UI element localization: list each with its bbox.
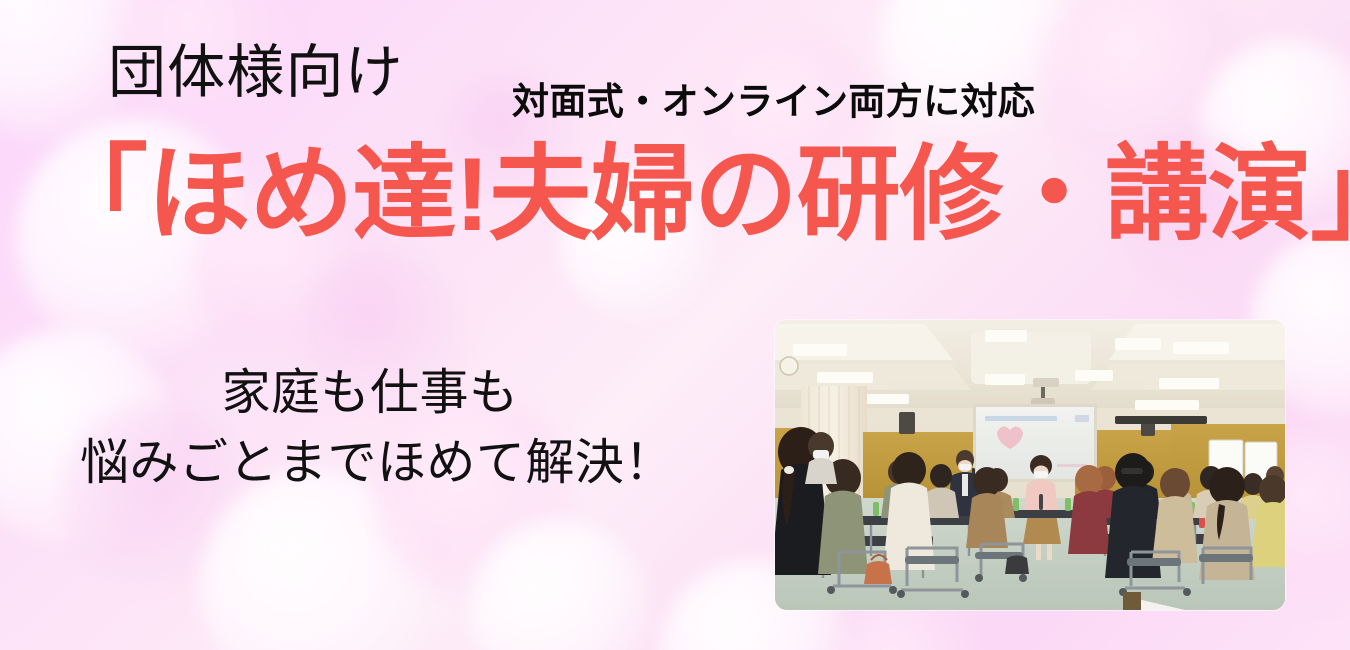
promo-banner: 団体様向け 対面式・オンライン両方に対応 「ほめ達!夫婦の研修・講演」 家庭も仕… [0,0,1350,650]
page-title: 「ほめ達!夫婦の研修・講演」 [44,139,1350,251]
lede-line-2: 悩みごとまでほめて解決！ [80,432,660,496]
lede-line-1: 家庭も仕事も [80,362,660,426]
seminar-photo [775,320,1285,610]
kicker-text: 団体様向け [108,44,404,102]
lede-copy: 家庭も仕事も 悩みごとまでほめて解決！ [80,362,660,495]
subhead-text: 対面式・オンライン両方に対応 [512,83,1035,120]
seminar-room-illustration [775,320,1285,610]
